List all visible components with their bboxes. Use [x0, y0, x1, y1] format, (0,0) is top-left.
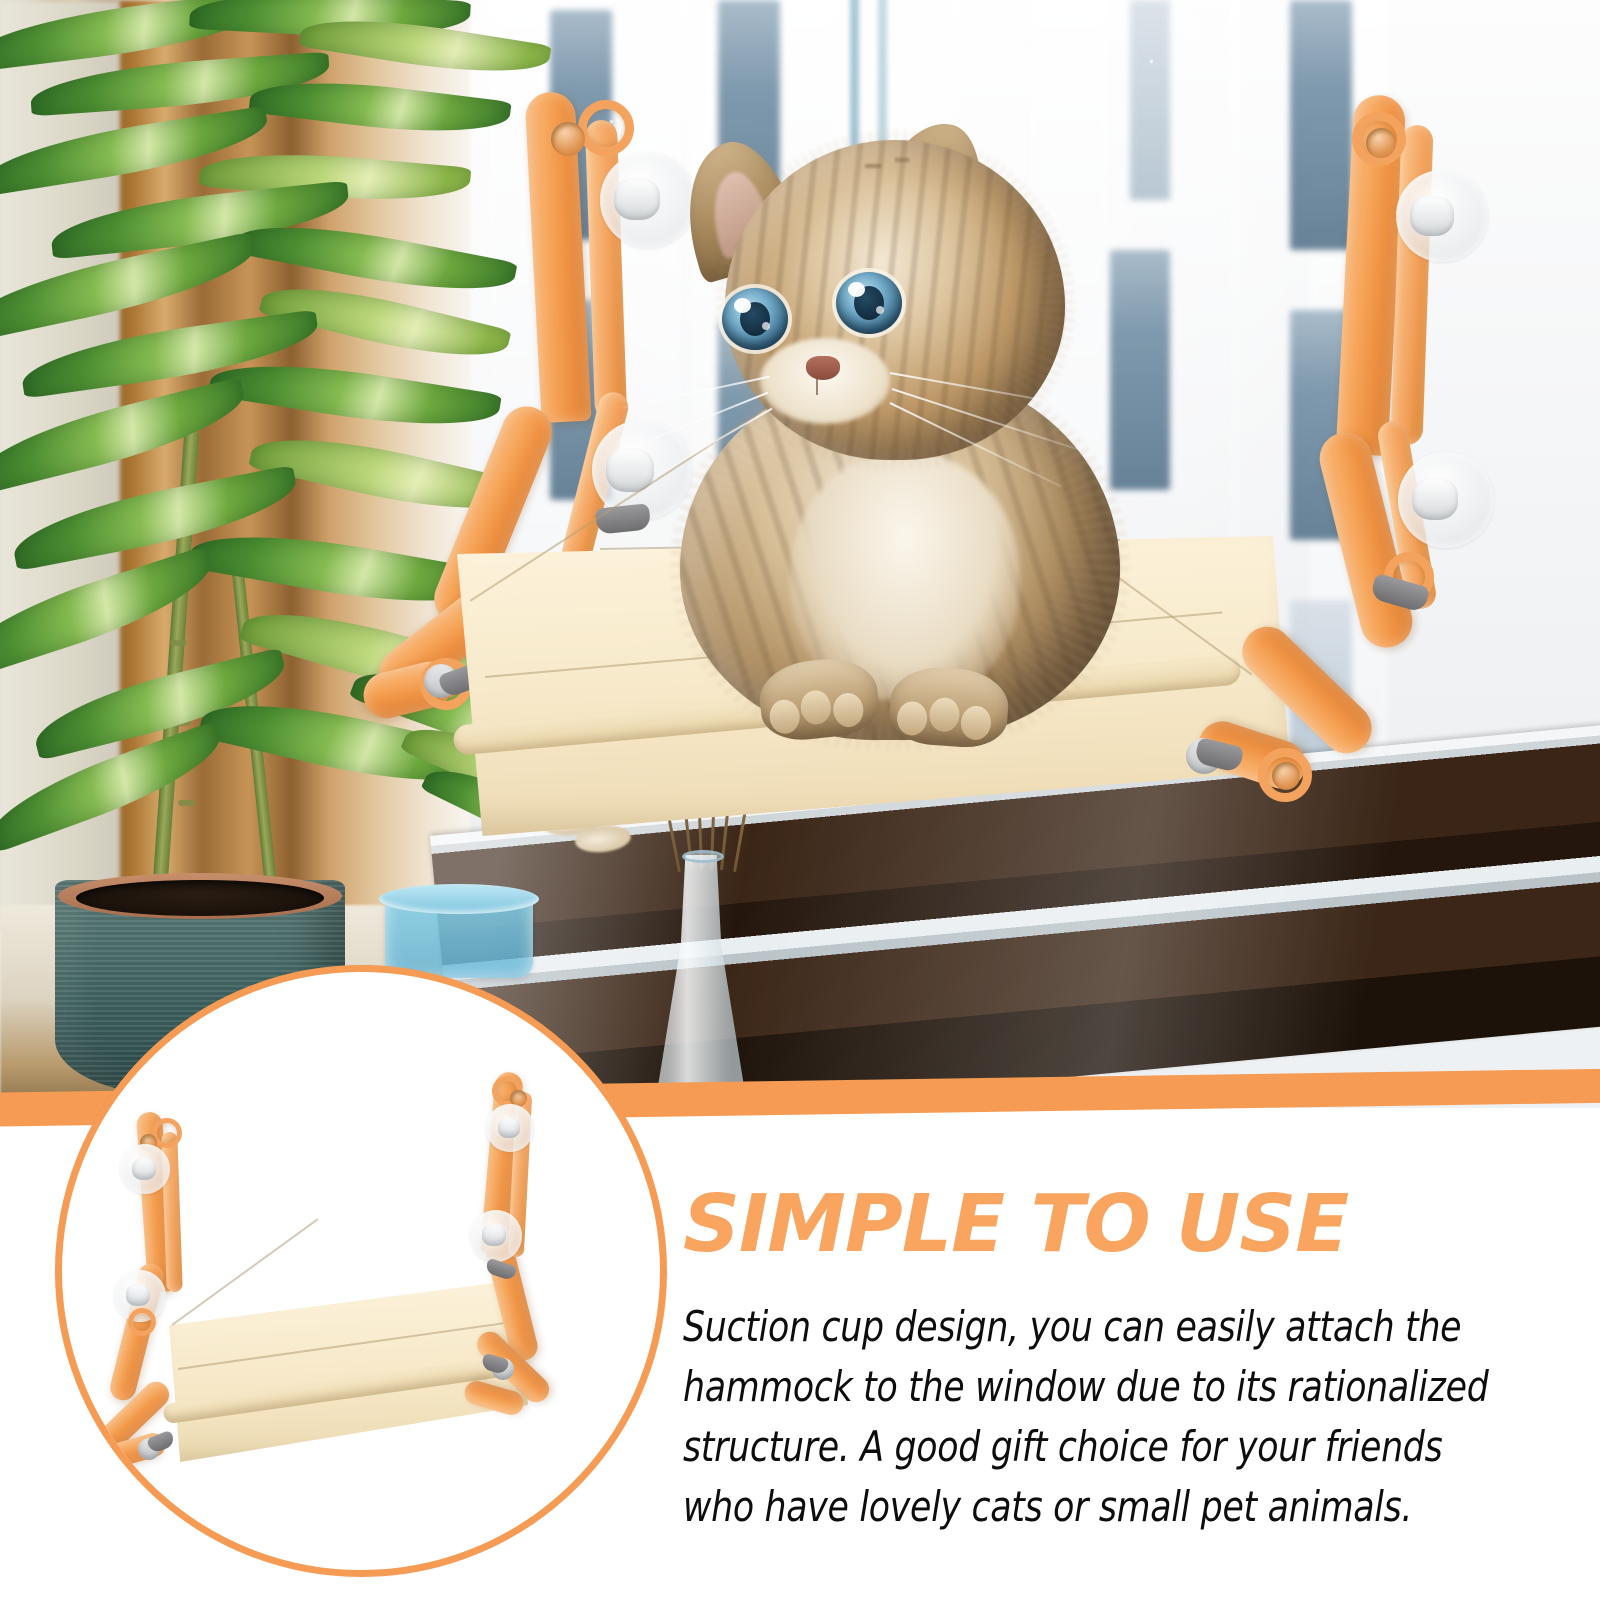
building-window	[1290, 0, 1352, 250]
building-window	[550, 560, 612, 750]
product-marketing-image: SIMPLE TO USE Suction cup design, you ca…	[0, 0, 1600, 1600]
suction-cup-knob	[498, 1118, 520, 1138]
kitten-mouth	[816, 379, 818, 395]
kitten-eye	[836, 272, 902, 334]
product-inset-circle	[55, 965, 667, 1577]
building-window	[550, 10, 612, 240]
potting-soil	[76, 880, 324, 916]
inset-product-shot	[62, 972, 660, 1570]
dried-lavender	[716, 766, 723, 786]
kitten-muzzle	[760, 338, 890, 424]
dried-lavender	[702, 758, 709, 778]
kitten-eye	[722, 288, 788, 350]
building-window	[550, 300, 612, 500]
pivot-ring	[128, 1308, 156, 1336]
dried-lavender	[676, 788, 683, 808]
dried-lavender	[729, 778, 736, 798]
hero-photo	[0, 0, 1600, 1108]
suction-cup-knob	[126, 1284, 150, 1306]
kitten-nose	[806, 356, 840, 380]
body-copy: Suction cup design, you can easily attac…	[683, 1297, 1501, 1536]
suction-cup-knob	[482, 1224, 506, 1246]
suction-cup-knob	[132, 1158, 156, 1180]
copy-block: SIMPLE TO USE Suction cup design, you ca…	[683, 1186, 1563, 1536]
dried-lavender	[688, 770, 695, 790]
headline: SIMPLE TO USE	[683, 1186, 1563, 1263]
kitten	[640, 120, 1160, 740]
building-window	[1290, 310, 1352, 540]
